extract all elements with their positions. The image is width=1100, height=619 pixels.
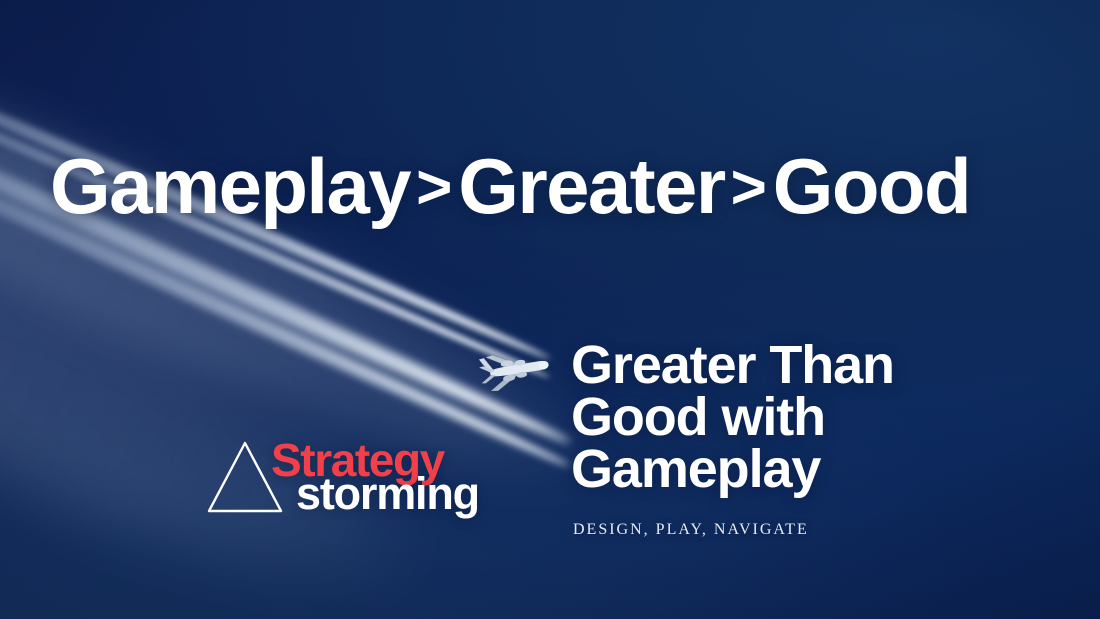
slide-canvas: Gameplay>Greater>Good Greater Than Good …: [0, 0, 1100, 619]
vignette-overlay: [0, 0, 1100, 619]
